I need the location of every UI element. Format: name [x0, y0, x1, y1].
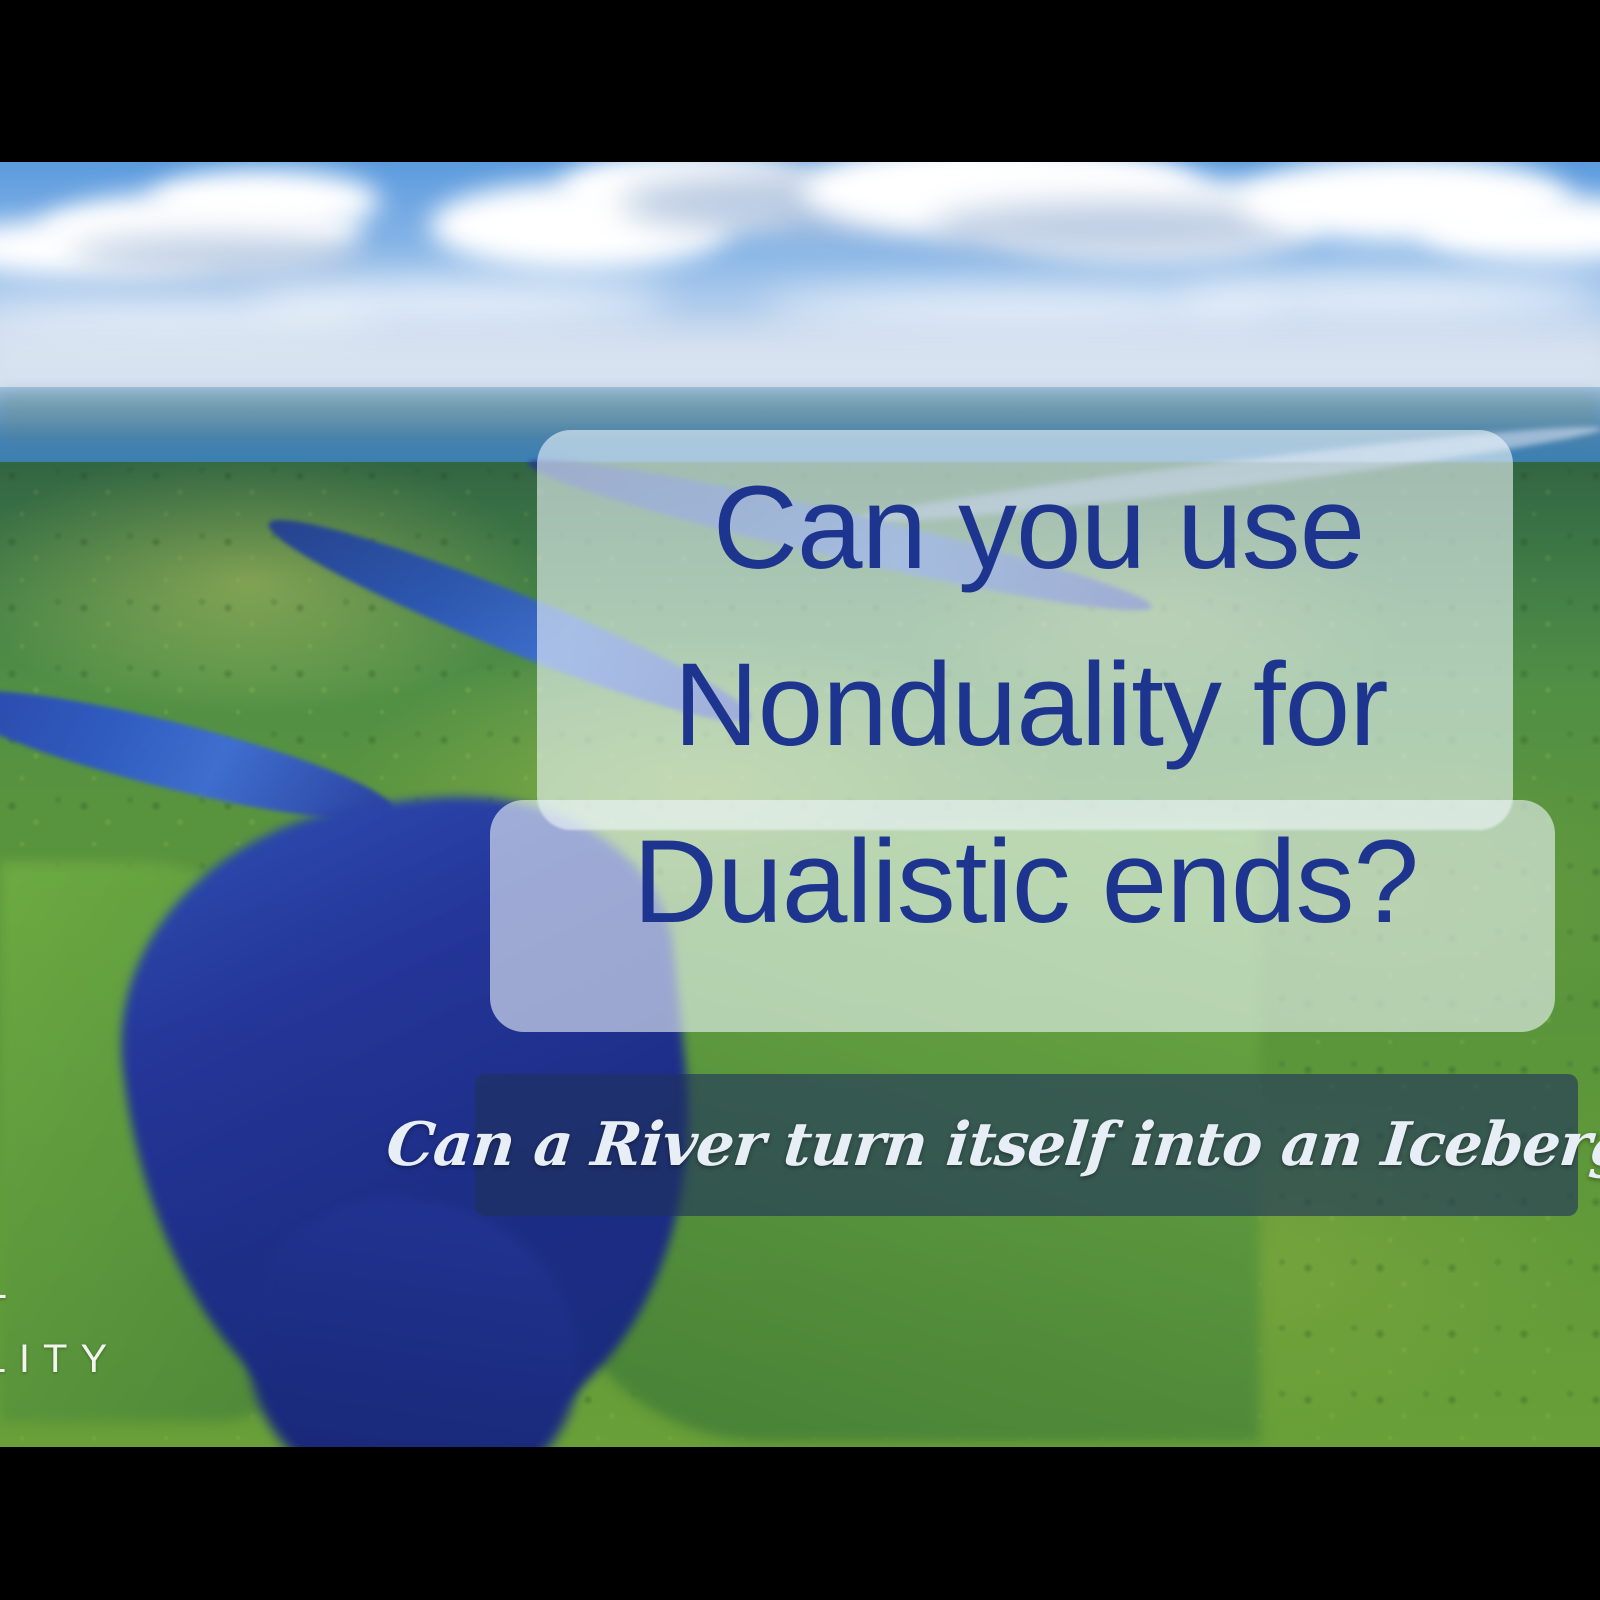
- letterbox-bar-bottom: [0, 1447, 1600, 1600]
- far-treeline-band: [0, 394, 1600, 442]
- subtitle-text: Can a River turn itself into an Iceberg?: [384, 1110, 1600, 1180]
- cloud-shape: [70, 236, 370, 274]
- watermark-line-2: ALITY: [0, 1327, 258, 1392]
- subtitle-banner: Can a River turn itself into an Iceberg?: [475, 1074, 1578, 1216]
- letterbox-bar-top: [0, 0, 1600, 162]
- thumbnail-canvas: Can you use Nonduality for Dualistic end…: [0, 0, 1600, 1600]
- watermark-line-1: N -: [0, 1262, 258, 1327]
- background-photo: [0, 162, 1600, 1447]
- channel-watermark: N - ALITY: [0, 1262, 258, 1392]
- cloud-shape: [150, 170, 380, 232]
